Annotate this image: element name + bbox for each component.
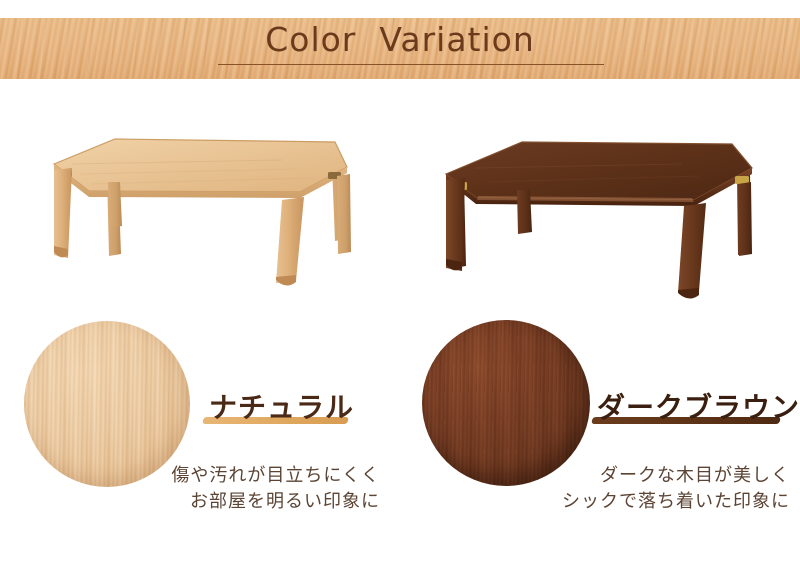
color-description-natural: 傷や汚れが目立ちにくく お部屋を明るい印象に <box>0 463 380 515</box>
color-description-dark-brown: ダークな木目が美しく シックで落ち着いた印象に <box>400 463 790 515</box>
color-description-natural-line-1: 傷や汚れが目立ちにくく <box>0 463 380 489</box>
color-description-dark-brown-line-2: シックで落ち着いた印象に <box>400 489 790 515</box>
table-illustration-natural <box>32 112 372 312</box>
color-variation-page: Color Variation <box>0 0 800 575</box>
color-swatch-dark-brown <box>422 320 590 486</box>
color-description-natural-line-2: お部屋を明るい印象に <box>0 489 380 515</box>
title-underline <box>218 64 604 65</box>
page-title: Color Variation <box>0 20 800 59</box>
color-description-dark-brown-line-1: ダークな木目が美しく <box>400 463 790 489</box>
color-name-natural: ナチュラル <box>209 386 354 426</box>
table-illustration-dark-brown <box>432 112 772 312</box>
color-name-dark-brown: ダークブラウン <box>597 386 800 426</box>
product-photo-dark-brown <box>432 112 772 312</box>
product-photo-natural <box>32 112 372 312</box>
